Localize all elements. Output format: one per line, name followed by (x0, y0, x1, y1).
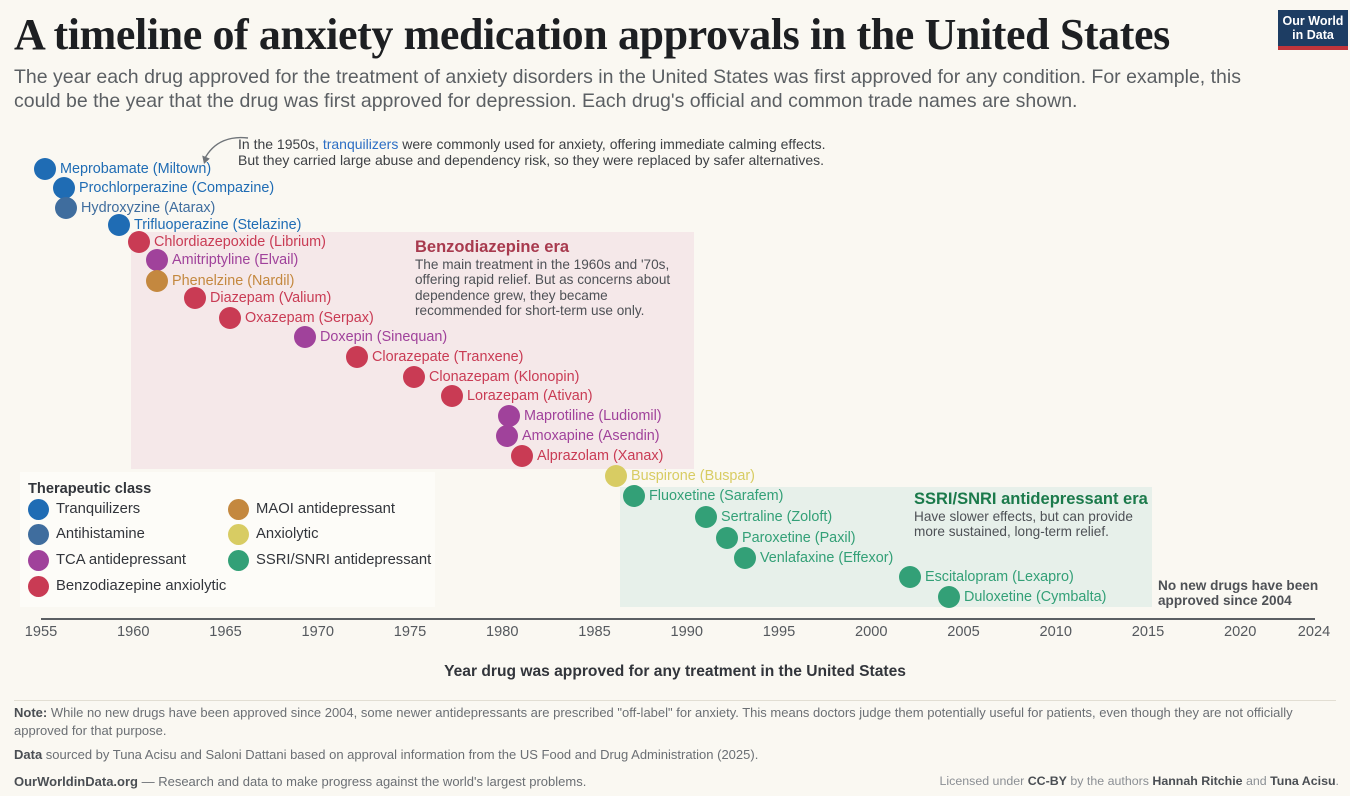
data-point-dot[interactable] (128, 231, 150, 253)
data-point-dot[interactable] (623, 485, 645, 507)
licence-and: and (1243, 774, 1271, 788)
data-point-dot[interactable] (441, 385, 463, 407)
data-point-dot[interactable] (695, 506, 717, 528)
annotation-benzodiazepine-era: Benzodiazepine era The main treatment in… (415, 238, 695, 319)
data-point-dot[interactable] (146, 270, 168, 292)
data-point-dot[interactable] (734, 547, 756, 569)
data-point-dot[interactable] (938, 586, 960, 608)
annotation-1950s-line2: But they carried large abuse and depende… (238, 152, 826, 168)
legend-swatch-benzodiazepine-anxiolytic (28, 576, 49, 597)
data-point-label[interactable]: Maprotiline (Ludiomil) (524, 408, 662, 424)
data-point-dot[interactable] (34, 158, 56, 180)
footer-note: Note: While no new drugs have been appro… (14, 704, 1339, 739)
data-point-label[interactable]: Diazepam (Valium) (210, 290, 331, 306)
data-point-dot[interactable] (219, 307, 241, 329)
legend-label-benzodiazepine-anxiolytic[interactable]: Benzodiazepine anxiolytic (56, 578, 226, 595)
x-axis-line (41, 618, 1315, 620)
data-point-label[interactable]: Prochlorperazine (Compazine) (79, 180, 274, 196)
legend-label-ssri-snri-antidepressant[interactable]: SSRI/SNRI antidepressant (256, 552, 431, 569)
data-point-label[interactable]: Oxazepam (Serpax) (245, 310, 374, 326)
x-axis-tick-2024: 2024 (1298, 624, 1330, 640)
footer-data-source: Data sourced by Tuna Acisu and Saloni Da… (14, 746, 1339, 764)
x-axis-tick-1960: 1960 (117, 624, 149, 640)
chart-footer: Note: While no new drugs have been appro… (14, 704, 1339, 790)
annotation-no-new-drugs: No new drugs have been approved since 20… (1158, 578, 1338, 609)
legend-label-antihistamine[interactable]: Antihistamine (56, 526, 145, 543)
legend-swatch-antihistamine (28, 524, 49, 545)
legend-label-maoi-antidepressant[interactable]: MAOI antidepressant (256, 501, 395, 518)
legend-swatch-anxiolytic (228, 524, 249, 545)
legend-swatch-tranquilizers (28, 499, 49, 520)
data-point-dot[interactable] (605, 465, 627, 487)
x-axis-tick-2020: 2020 (1224, 624, 1256, 640)
legend-label-anxiolytic[interactable]: Anxiolytic (256, 526, 319, 543)
data-point-label[interactable]: Clonazepam (Klonopin) (429, 369, 579, 385)
x-axis-tick-2000: 2000 (855, 624, 887, 640)
licence-cc-link[interactable]: CC-BY (1028, 774, 1067, 788)
data-point-label[interactable]: Fluoxetine (Sarafem) (649, 488, 783, 504)
footer-licence: Licensed under CC-BY by the authors Hann… (940, 773, 1339, 791)
legend-swatch-tca-antidepressant (28, 550, 49, 571)
data-point-label[interactable]: Alprazolam (Xanax) (537, 448, 663, 464)
x-axis-label: Year drug was approved for any treatment… (0, 663, 1350, 681)
legend-label-tca-antidepressant[interactable]: TCA antidepressant (56, 552, 186, 569)
data-point-label[interactable]: Duloxetine (Cymbalta) (964, 589, 1106, 605)
data-point-dot[interactable] (53, 177, 75, 199)
footer-data-text: sourced by Tuna Acisu and Saloni Dattani… (42, 747, 758, 762)
data-point-dot[interactable] (496, 425, 518, 447)
data-point-dot[interactable] (294, 326, 316, 348)
footer-note-label: Note: (14, 705, 47, 720)
footer-site-line: OurWorldinData.org — Research and data t… (14, 773, 1339, 791)
data-point-dot[interactable] (184, 287, 206, 309)
data-point-label[interactable]: Trifluoperazine (Stelazine) (134, 217, 301, 233)
annotation-1950s-highlight: tranquilizers (323, 136, 398, 152)
data-point-label[interactable]: Hydroxyzine (Atarax) (81, 200, 215, 216)
annotation-1950s: In the 1950s, tranquilizers were commonl… (238, 136, 826, 168)
data-point-label[interactable]: Escitalopram (Lexapro) (925, 569, 1074, 585)
data-point-dot[interactable] (511, 445, 533, 467)
data-point-label[interactable]: Venlafaxine (Effexor) (760, 550, 893, 566)
annotation-1950s-line1: In the 1950s, tranquilizers were commonl… (238, 136, 826, 152)
x-axis-tick-1990: 1990 (670, 624, 702, 640)
annotation-ssri-title: SSRI/SNRI antidepressant era (914, 490, 1164, 509)
data-point-label[interactable]: Chlordiazepoxide (Librium) (154, 234, 326, 250)
annotation-benzo-title: Benzodiazepine era (415, 238, 695, 257)
licence-mid: by the authors (1067, 774, 1152, 788)
x-axis-tick-1970: 1970 (302, 624, 334, 640)
data-point-label[interactable]: Doxepin (Sinequan) (320, 329, 447, 345)
data-point-label[interactable]: Paroxetine (Paxil) (742, 530, 856, 546)
licence-author-2[interactable]: Tuna Acisu (1270, 774, 1335, 788)
data-point-label[interactable]: Phenelzine (Nardil) (172, 273, 294, 289)
licence-end: . (1336, 774, 1339, 788)
annotation-benzo-body: The main treatment in the 1960s and '70s… (415, 257, 695, 319)
data-point-dot[interactable] (346, 346, 368, 368)
annotation-1950s-post: were commonly used for anxiety, offering… (398, 136, 825, 152)
data-point-label[interactable]: Clorazepate (Tranxene) (372, 349, 523, 365)
data-point-label[interactable]: Meprobamate (Miltown) (60, 161, 211, 177)
x-axis-tick-2015: 2015 (1132, 624, 1164, 640)
x-axis-tick-1955: 1955 (25, 624, 57, 640)
timeline-plot: In the 1950s, tranquilizers were commonl… (0, 0, 1350, 796)
data-point-label[interactable]: Buspirone (Buspar) (631, 468, 755, 484)
legend-label-tranquilizers[interactable]: Tranquilizers (56, 501, 140, 518)
data-point-label[interactable]: Amitriptyline (Elvail) (172, 252, 298, 268)
data-point-dot[interactable] (716, 527, 738, 549)
footer-note-text: While no new drugs have been approved si… (14, 705, 1293, 738)
footer-site-text: — Research and data to make progress aga… (138, 774, 586, 789)
x-axis-tick-1965: 1965 (209, 624, 241, 640)
x-axis-tick-1980: 1980 (486, 624, 518, 640)
x-axis-tick-1985: 1985 (578, 624, 610, 640)
licence-author-1[interactable]: Hannah Ritchie (1152, 774, 1242, 788)
data-point-dot[interactable] (498, 405, 520, 427)
data-point-label[interactable]: Sertraline (Zoloft) (721, 509, 832, 525)
annotation-ssri-body: Have slower effects, but can provide mor… (914, 509, 1164, 540)
annotation-1950s-pre: In the 1950s, (238, 136, 323, 152)
data-point-dot[interactable] (403, 366, 425, 388)
x-axis-tick-2010: 2010 (1039, 624, 1071, 640)
data-point-label[interactable]: Lorazepam (Ativan) (467, 388, 593, 404)
data-point-dot[interactable] (146, 249, 168, 271)
annotation-ssri-snri-era: SSRI/SNRI antidepressant era Have slower… (914, 490, 1164, 540)
data-point-dot[interactable] (899, 566, 921, 588)
data-point-dot[interactable] (55, 197, 77, 219)
footer-data-label: Data (14, 747, 42, 762)
footer-site-link[interactable]: OurWorldinData.org (14, 774, 138, 789)
x-axis-tick-1975: 1975 (394, 624, 426, 640)
licence-pre: Licensed under (940, 774, 1028, 788)
x-axis-tick-2005: 2005 (947, 624, 979, 640)
footer-divider (14, 700, 1336, 701)
legend-title: Therapeutic class (28, 481, 151, 497)
data-point-label[interactable]: Amoxapine (Asendin) (522, 428, 660, 444)
x-axis-tick-1995: 1995 (763, 624, 795, 640)
data-point-dot[interactable] (108, 214, 130, 236)
legend-swatch-maoi-antidepressant (228, 499, 249, 520)
legend-swatch-ssri-snri-antidepressant (228, 550, 249, 571)
